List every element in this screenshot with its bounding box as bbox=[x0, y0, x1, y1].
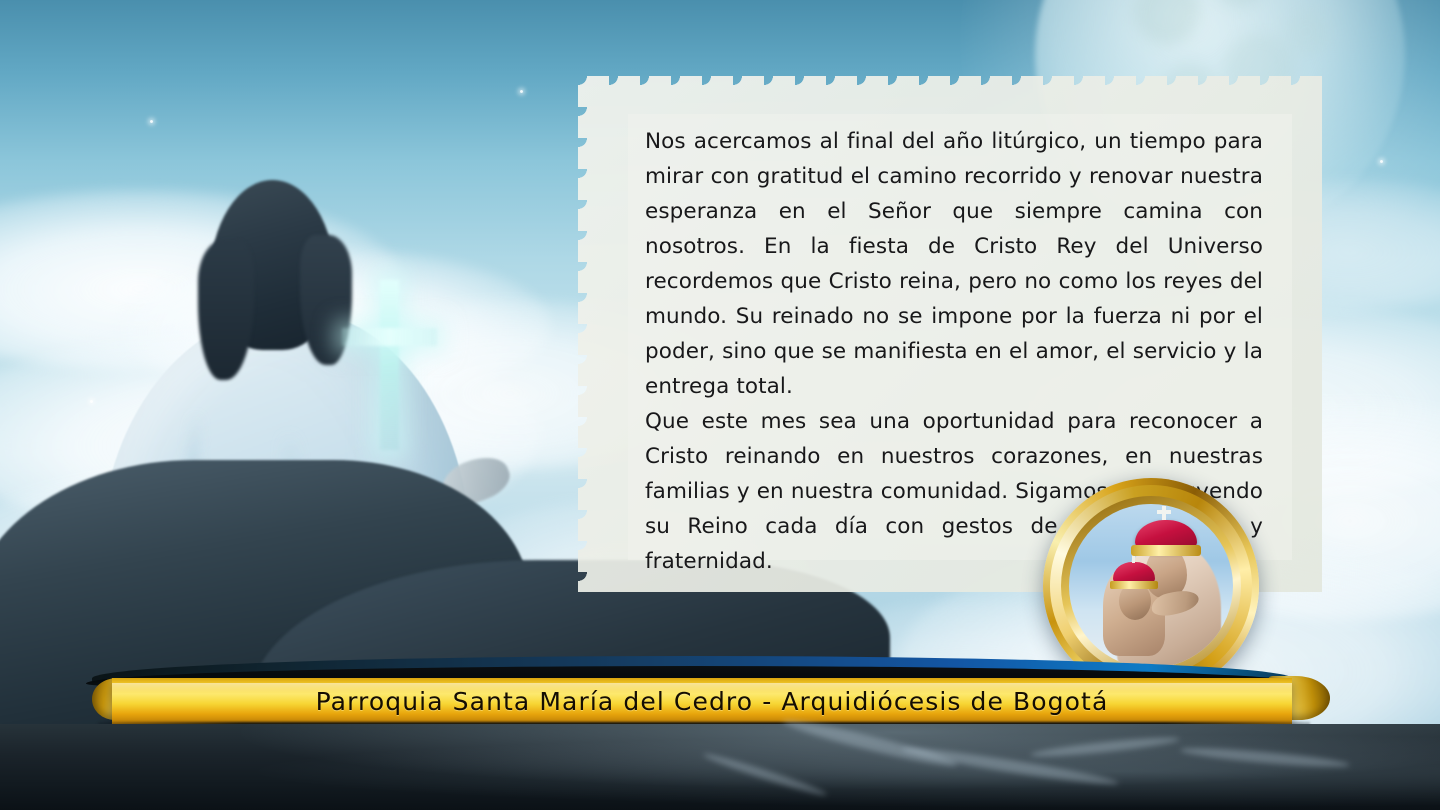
virgin-and-child-statue bbox=[1069, 504, 1233, 668]
parish-name-label: Parroquia Santa María del Cedro - Arquid… bbox=[112, 678, 1292, 724]
foreground-rock bbox=[0, 724, 1440, 810]
slide-canvas: Nos acercamos al final del año litúrgico… bbox=[0, 0, 1440, 810]
sparkle bbox=[1380, 160, 1383, 163]
gold-ribbon-banner: Parroquia Santa María del Cedro - Arquid… bbox=[112, 678, 1292, 724]
sparkle bbox=[150, 120, 153, 123]
glowing-cross-icon bbox=[330, 280, 450, 450]
message-paragraph-1: Nos acercamos al final del año litúrgico… bbox=[645, 124, 1263, 404]
sparkle bbox=[520, 90, 523, 93]
